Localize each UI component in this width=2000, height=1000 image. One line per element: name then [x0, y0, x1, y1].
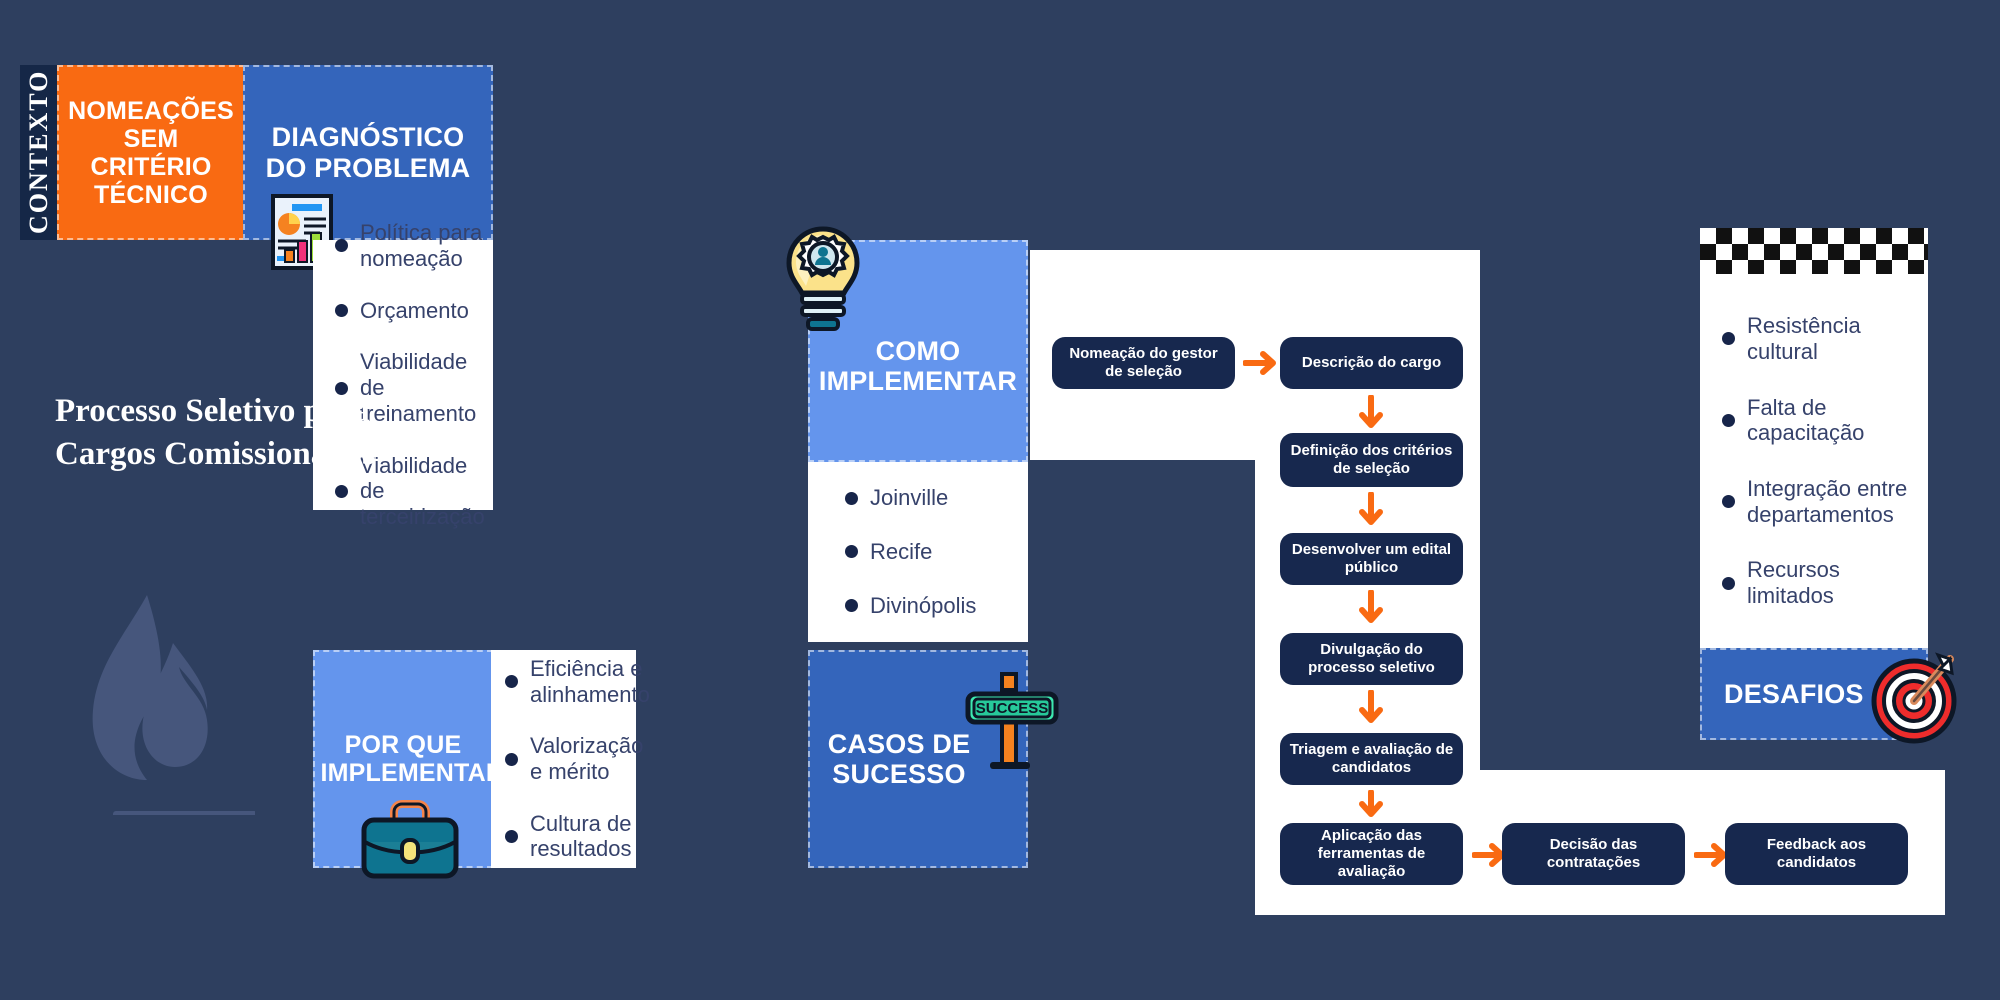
- list-item: Orçamento: [335, 298, 495, 324]
- arrow-down-icon: [1356, 790, 1386, 824]
- bullet-text: Valorização e mérito: [530, 733, 643, 784]
- bullet-dot: [845, 545, 858, 558]
- bullet-text: Recursos limitados: [1747, 557, 1932, 608]
- desafios-bullet-list: Resistência cultural Falta de capacitaçã…: [1722, 274, 1932, 648]
- bullet-dot: [335, 239, 348, 252]
- bullet-dot: [1722, 414, 1735, 427]
- arrow-down-icon: [1356, 395, 1386, 435]
- list-item: Joinville: [845, 485, 1035, 511]
- list-item: Falta de capacitação: [1722, 395, 1932, 446]
- bullet-text: Política para nomeação: [360, 220, 495, 271]
- desafios-label: DESAFIOS: [1702, 679, 1862, 709]
- list-item: Recursos limitados: [1722, 557, 1932, 608]
- bullet-dot: [1722, 332, 1735, 345]
- flow-step-5[interactable]: Divulgação do processo seletivo: [1280, 633, 1463, 685]
- flow-step-7[interactable]: Aplicação das ferramentas de avaliação: [1280, 823, 1463, 885]
- target-arrow-icon: [1860, 645, 1960, 745]
- list-item: Valorização e mérito: [505, 733, 637, 784]
- bullet-dot: [335, 304, 348, 317]
- infographic-canvas: CONTEXTO NOMEAÇÕES SEM CRITÉRIO TÉCNICO …: [0, 0, 2000, 1000]
- flow-step-2[interactable]: Descrição do cargo: [1280, 337, 1463, 389]
- list-item: Integração entre departamentos: [1722, 476, 1932, 527]
- arrow-down-icon: [1356, 690, 1386, 730]
- lightbulb-gear-person-icon: [782, 225, 864, 337]
- bullet-text: Eficiência e alinhamento: [530, 656, 650, 707]
- contexto-vertical-label: CONTEXTO: [24, 72, 54, 234]
- bullet-dot: [505, 830, 518, 843]
- flow-step-4[interactable]: Desenvolver um edital público: [1280, 533, 1463, 585]
- arrow-right-icon: [1243, 348, 1283, 378]
- por-que-card-label: POR QUE IMPLEMENTAR: [321, 731, 486, 787]
- bullet-dot: [505, 753, 518, 766]
- bullet-text: Joinville: [870, 485, 948, 511]
- bullet-dot: [845, 599, 858, 612]
- flow-step-1[interactable]: Nomeação do gestor de seleção: [1052, 337, 1235, 389]
- bullet-text: Resistência cultural: [1747, 313, 1932, 364]
- list-item: Política para nomeação: [335, 220, 495, 271]
- bullet-text: Orçamento: [360, 298, 469, 324]
- flow-step-9[interactable]: Feedback aos candidatos: [1725, 823, 1908, 885]
- bullet-dot: [845, 492, 858, 505]
- nomeacoes-card[interactable]: NOMEAÇÕES SEM CRITÉRIO TÉCNICO: [57, 65, 245, 240]
- success-signpost-icon: SUCCESS: [960, 668, 1070, 778]
- bullet-text: Integração entre departamentos: [1747, 476, 1932, 527]
- page-title: Processo Seletivo para Cargos Comissiona…: [55, 390, 385, 476]
- bullet-text: Falta de capacitação: [1747, 395, 1932, 446]
- arrow-down-icon: [1356, 492, 1386, 532]
- list-item: Cultura de resultados: [505, 811, 637, 862]
- list-item: Eficiência e alinhamento: [505, 656, 637, 707]
- list-item: Recife: [845, 539, 1035, 565]
- success-sign-text: SUCCESS: [976, 700, 1049, 717]
- bullet-dot: [1722, 495, 1735, 508]
- checkered-flag-pattern: [1700, 228, 1928, 274]
- arrow-down-icon: [1356, 590, 1386, 630]
- bullet-text: Divinópolis: [870, 593, 976, 619]
- torch-flame-watermark: [55, 515, 255, 815]
- diagnostico-card-label: DIAGNÓSTICO DO PROBLEMA: [261, 122, 476, 182]
- bullet-text: Cultura de resultados: [530, 811, 637, 862]
- bullet-dot: [505, 675, 518, 688]
- como-bullet-list: Joinville Recife Divinópolis: [845, 462, 1035, 642]
- list-item: Resistência cultural: [1722, 313, 1932, 364]
- flow-step-8[interactable]: Decisão das contratações: [1502, 823, 1685, 885]
- flow-step-3[interactable]: Definição dos critérios de seleção: [1280, 433, 1463, 487]
- nomeacoes-card-label: NOMEAÇÕES SEM CRITÉRIO TÉCNICO: [66, 97, 236, 209]
- bullet-dot: [1722, 577, 1735, 590]
- flow-step-6[interactable]: Triagem e avaliação de candidatos: [1280, 733, 1463, 785]
- bullet-dot: [335, 485, 348, 498]
- briefcase-icon: [358, 796, 462, 880]
- list-item: Divinópolis: [845, 593, 1035, 619]
- por-que-bullet-list: Eficiência e alinhamento Valorização e m…: [505, 650, 637, 868]
- bullet-text: Recife: [870, 539, 932, 565]
